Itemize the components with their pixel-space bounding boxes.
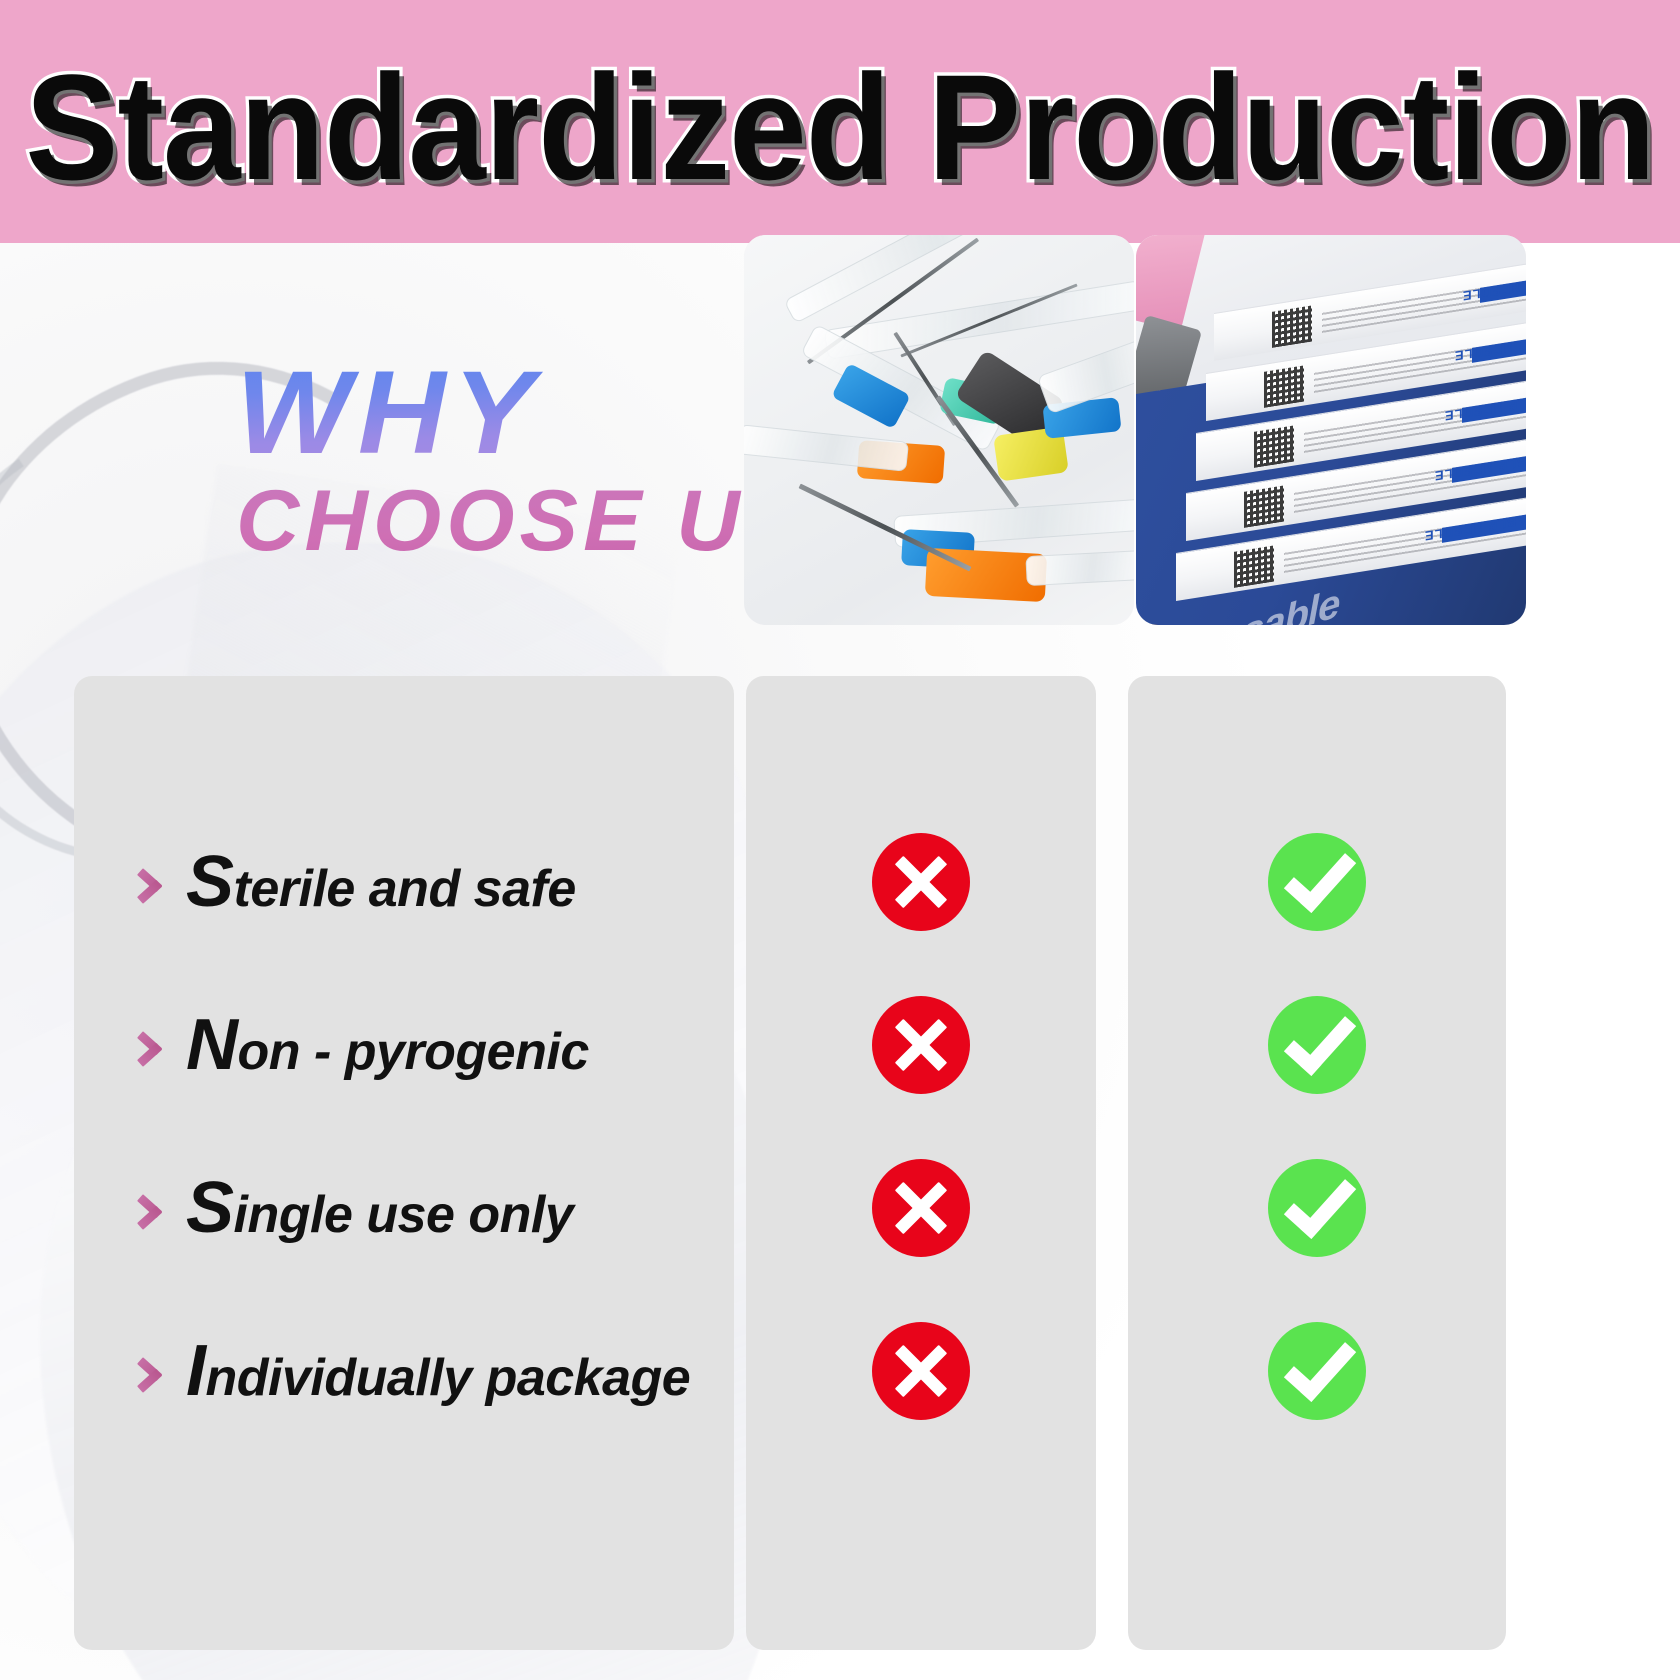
needle-tube (1025, 550, 1134, 586)
competitor-mark-column: X X X X (746, 800, 1096, 1452)
mark-row: X (746, 800, 1096, 963)
chevron-right-icon (138, 859, 172, 905)
cross-icon: X (872, 996, 970, 1094)
feature-initial: S (186, 842, 234, 922)
chevron-right-icon (138, 1185, 172, 1231)
header-band: Standardized Production (0, 0, 1680, 243)
photo-boxes-image: Disposable DISPOSABLE NEEDLE DISPOSABLE … (1136, 235, 1526, 625)
feature-text: on - pyrogenic (238, 1023, 589, 1081)
feature-text: ingle use only (234, 1186, 574, 1244)
chevron-right-icon (138, 1022, 172, 1068)
mark-row: ✓ (1128, 800, 1506, 963)
photo-boxes: Disposable DISPOSABLE NEEDLE DISPOSABLE … (1136, 235, 1526, 625)
barcode-icon (1264, 366, 1304, 408)
feature-row: Individually package (138, 1289, 738, 1452)
feature-row: Single use only (138, 1126, 738, 1289)
page-title: Standardized Production (25, 52, 1654, 202)
feature-initial: S (186, 1168, 234, 1248)
feature-label: Sterile and safe (186, 846, 576, 918)
check-icon: ✓ (1268, 833, 1366, 931)
ours-mark-column: ✓ ✓ ✓ ✓ (1128, 800, 1506, 1452)
check-icon: ✓ (1268, 1159, 1366, 1257)
feature-initial: N (186, 1005, 238, 1085)
mark-row: X (746, 1289, 1096, 1452)
needle-tube (744, 424, 909, 472)
photo-needles (744, 235, 1134, 625)
sachet-fineprint (1322, 271, 1526, 333)
feature-text: terile and safe (234, 860, 576, 918)
check-icon: ✓ (1268, 996, 1366, 1094)
mark-row: ✓ (1128, 1289, 1506, 1452)
cross-icon: X (872, 1322, 970, 1420)
cross-icon: X (872, 833, 970, 931)
feature-initial: I (186, 1331, 206, 1411)
mark-row: X (746, 963, 1096, 1126)
feature-label: Single use only (186, 1172, 573, 1244)
cross-icon: X (872, 1159, 970, 1257)
barcode-icon (1234, 546, 1274, 588)
mark-row: ✓ (1128, 1126, 1506, 1289)
feature-list: Sterile and safe Non - pyrogenic Single … (138, 800, 738, 1452)
chevron-right-icon (138, 1348, 172, 1394)
barcode-icon (1254, 426, 1294, 468)
feature-label: Individually package (186, 1335, 690, 1407)
barcode-icon (1272, 306, 1312, 348)
mark-row: ✓ (1128, 963, 1506, 1126)
feature-text: ndividually package (206, 1349, 691, 1407)
mark-row: X (746, 1126, 1096, 1289)
feature-row: Sterile and safe (138, 800, 738, 963)
feature-row: Non - pyrogenic (138, 963, 738, 1126)
feature-label: Non - pyrogenic (186, 1009, 589, 1081)
barcode-icon (1244, 486, 1284, 528)
check-icon: ✓ (1268, 1322, 1366, 1420)
photo-needles-image (744, 235, 1134, 625)
